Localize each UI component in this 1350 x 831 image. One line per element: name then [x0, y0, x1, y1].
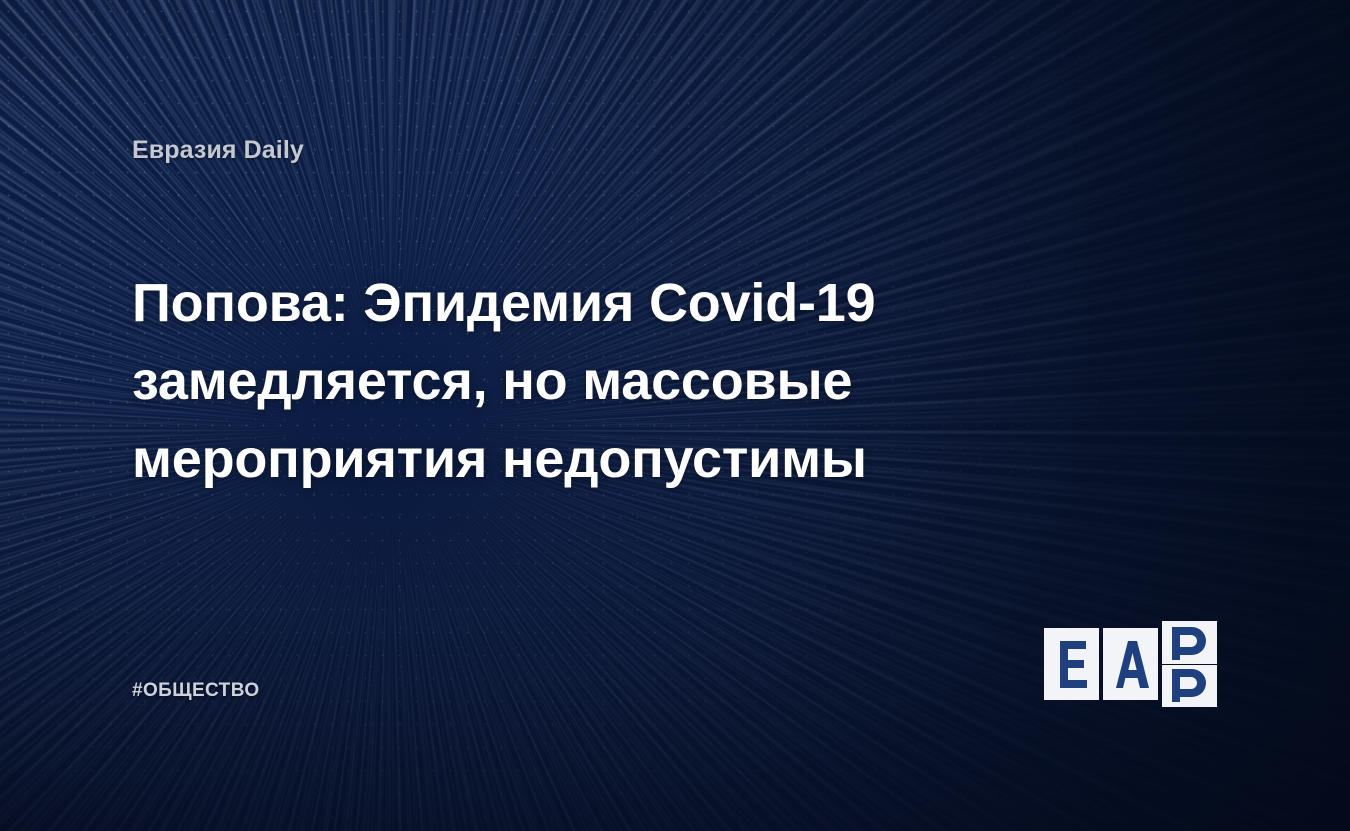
category-tag[interactable]: #ОБЩЕСТВО	[132, 680, 260, 702]
article-header-card: Евразия Daily Попова: Эпидемия Covid-19 …	[0, 0, 1350, 831]
article-headline: Попова: Эпидемия Covid-19 замедляется, н…	[132, 264, 962, 498]
brand-name: Евразия Daily	[132, 136, 304, 165]
headline-line-3: мероприятия недопустимы	[132, 420, 962, 498]
headline-line-1: Попова: Эпидемия Covid-19	[132, 264, 962, 342]
logo-tile-e	[1044, 628, 1099, 700]
card-content: Евразия Daily Попова: Эпидемия Covid-19 …	[0, 0, 1350, 831]
logo-tile-d	[1162, 621, 1217, 707]
headline-line-2: замедляется, но массовые	[132, 342, 962, 420]
eadaily-logo[interactable]	[1044, 621, 1224, 707]
logo-tile-a	[1103, 628, 1158, 700]
